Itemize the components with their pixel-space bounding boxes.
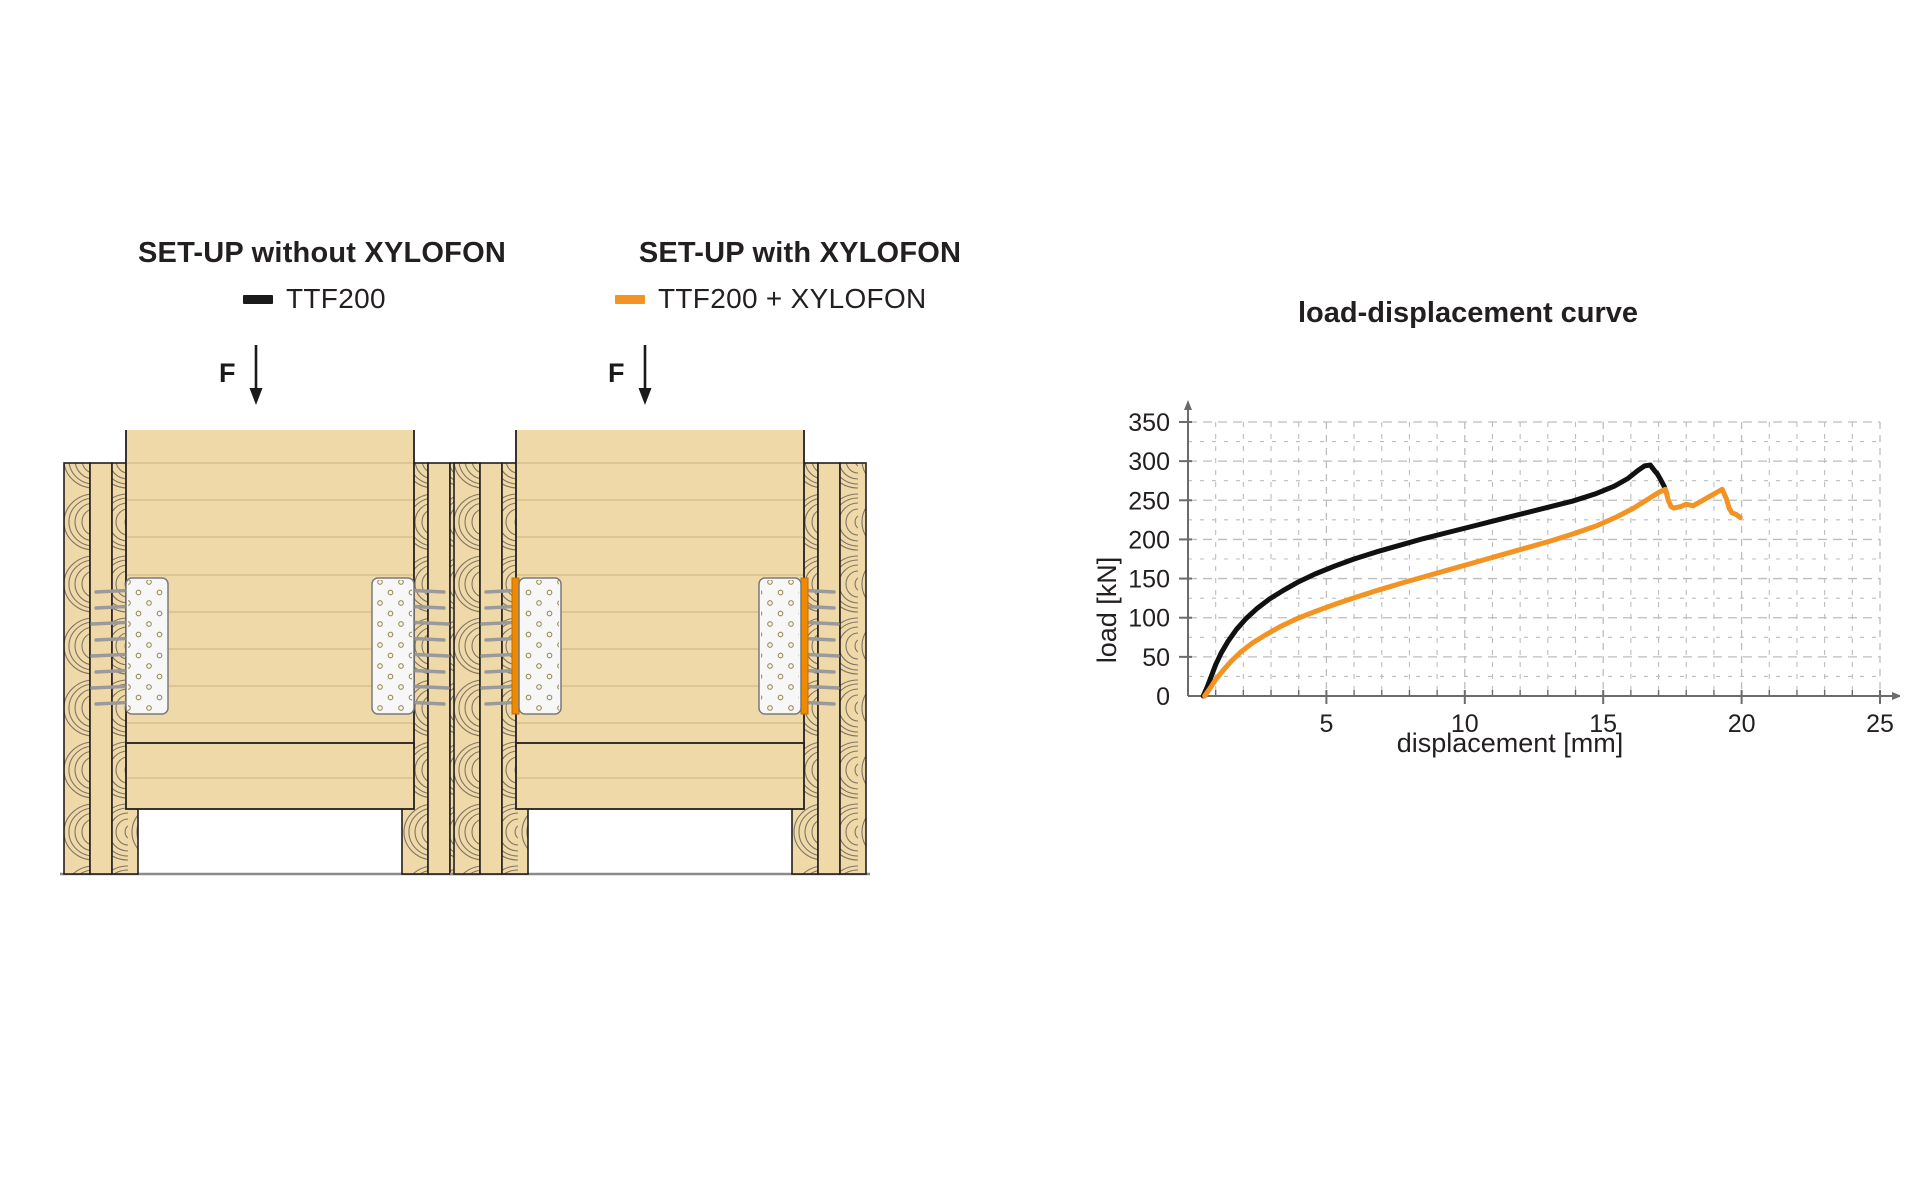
legend-right: TTF200 + XYLOFON	[615, 283, 927, 315]
force-arrow-left	[246, 345, 272, 407]
x-tick-label: 5	[1319, 710, 1333, 738]
x-axis-label: displacement [mm]	[1397, 728, 1624, 758]
legend-left: TTF200	[243, 283, 386, 315]
y-tick-label: 350	[1128, 409, 1170, 437]
y-tick-label: 50	[1142, 644, 1170, 672]
connector-plate-right	[759, 578, 801, 714]
xylofon-layer-left	[512, 578, 519, 714]
setup-left-title: SET-UP without XYLOFON	[127, 237, 517, 270]
central-timber-beam	[126, 430, 414, 809]
x-tick-label: 20	[1728, 710, 1756, 738]
x-tick-label: 25	[1866, 710, 1894, 738]
force-label-left: F	[219, 358, 236, 389]
connector-plate-left	[519, 578, 561, 714]
y-tick-label: 250	[1128, 487, 1170, 515]
load-displacement-chart: 050100150200250300350510152025 displacem…	[1080, 400, 1900, 800]
xylofon-layer-right	[801, 578, 808, 714]
force-arrow-right	[635, 345, 661, 407]
chart-axes	[1179, 400, 1900, 704]
y-tick-label: 100	[1128, 605, 1170, 633]
connector-plate-left	[126, 578, 168, 714]
chart-title: load-displacement curve	[1298, 297, 1638, 330]
connector-plate-right	[372, 578, 414, 714]
legend-label-ttf200-xylofon: TTF200 + XYLOFON	[658, 283, 927, 315]
chart-gridlines	[1188, 422, 1880, 696]
y-tick-label: 150	[1128, 566, 1170, 594]
y-axis-label: load [kN]	[1092, 557, 1122, 664]
figure-canvas: SET-UP without XYLOFON TTF200 SET-UP wit…	[0, 0, 1920, 1200]
legend-swatch-ttf200-xylofon	[615, 295, 645, 304]
legend-swatch-ttf200	[243, 295, 273, 304]
y-tick-label: 200	[1128, 526, 1170, 554]
setup-drawing-with-xylofon	[450, 430, 870, 900]
y-tick-label: 0	[1156, 683, 1170, 711]
y-tick-label: 300	[1128, 448, 1170, 476]
setup-right-title: SET-UP with XYLOFON	[625, 237, 975, 270]
legend-label-ttf200: TTF200	[286, 283, 386, 315]
force-label-right: F	[608, 358, 625, 389]
setup-drawing-without-xylofon	[60, 430, 480, 900]
